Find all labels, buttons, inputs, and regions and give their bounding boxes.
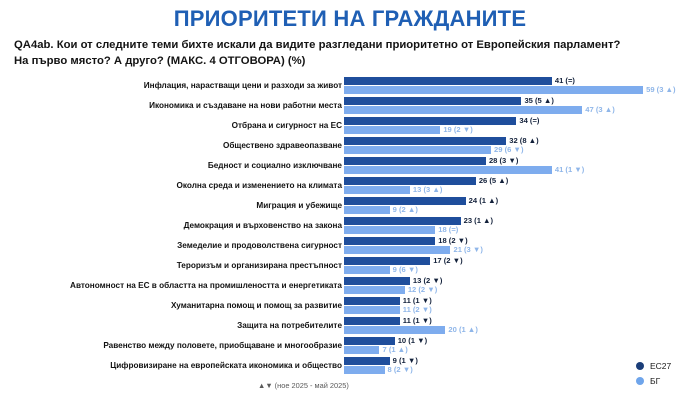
- bar-group: 11 (1 ▼)20 (1 ▲): [344, 316, 700, 336]
- legend-swatch-icon: [636, 362, 644, 370]
- bar-group: 34 (=)19 (2 ▼): [344, 116, 700, 136]
- category-label: Отбрана и сигурност на ЕС: [0, 116, 342, 135]
- bar-value-eu27: 23 (1 ▲): [464, 215, 493, 226]
- category-label: Тероризъм и организирана престъпност: [0, 256, 342, 275]
- bar-group: 13 (2 ▼)12 (2 ▼): [344, 276, 700, 296]
- bar-bg: [344, 246, 450, 254]
- bar-value-eu27: 35 (5 ▲): [524, 95, 553, 106]
- bar-bg: [344, 86, 643, 94]
- chart-row: Равенство между половете, приобщаване и …: [0, 336, 700, 356]
- bar-value-eu27: 11 (1 ▼): [403, 315, 432, 326]
- bar-value-bg: 8 (2 ▼): [388, 364, 413, 375]
- bar-group: 41 (=)59 (3 ▲): [344, 76, 700, 96]
- bar-chart: Инфлация, нарастващи цени и разходи за ж…: [0, 76, 700, 376]
- chart-row: Земеделие и продоволствена сигурност18 (…: [0, 236, 700, 256]
- bar-value-bg: 18 (=): [438, 224, 458, 235]
- bar-bg: [344, 326, 445, 334]
- category-label: Миграция и убежище: [0, 196, 342, 215]
- bar-value-bg: 11 (2 ▼): [403, 304, 432, 315]
- bar-eu27: [344, 177, 476, 185]
- bar-group: 35 (5 ▲)47 (3 ▲): [344, 96, 700, 116]
- chart-row: Демокрация и върховенство на закона23 (1…: [0, 216, 700, 236]
- chart-row: Обществено здравеопазване32 (8 ▲)29 (6 ▼…: [0, 136, 700, 156]
- bar-value-bg: 19 (2 ▼): [443, 124, 472, 135]
- bar-value-eu27: 26 (5 ▲): [479, 175, 508, 186]
- chart-row: Цифровизиране на европейската икономика …: [0, 356, 700, 376]
- bar-value-eu27: 41 (=): [555, 75, 575, 86]
- bar-value-bg: 29 (6 ▼): [494, 144, 523, 155]
- category-label: Хуманитарна помощ и помощ за развитие: [0, 296, 342, 315]
- bar-group: 32 (8 ▲)29 (6 ▼): [344, 136, 700, 156]
- bar-eu27: [344, 357, 390, 365]
- bar-eu27: [344, 157, 486, 165]
- legend-item-eu27: ЕС27: [636, 358, 700, 373]
- legend-label: ЕС27: [650, 361, 671, 371]
- bar-value-bg: 59 (3 ▲): [646, 84, 675, 95]
- bar-group: 24 (1 ▲)9 (2 ▲): [344, 196, 700, 216]
- category-label: Инфлация, нарастващи цени и разходи за ж…: [0, 76, 342, 95]
- bar-group: 11 (1 ▼)11 (2 ▼): [344, 296, 700, 316]
- bar-value-eu27: 24 (1 ▲): [469, 195, 498, 206]
- bar-value-bg: 41 (1 ▼): [555, 164, 584, 175]
- bar-value-bg: 12 (2 ▼): [408, 284, 437, 295]
- bar-bg: [344, 166, 552, 174]
- bar-value-bg: 20 (1 ▲): [448, 324, 477, 335]
- chart-row: Околна среда и изменението на климата26 …: [0, 176, 700, 196]
- bar-value-eu27: 34 (=): [519, 115, 539, 126]
- bar-bg: [344, 346, 379, 354]
- chart-row: Хуманитарна помощ и помощ за развитие11 …: [0, 296, 700, 316]
- bar-value-bg: 21 (3 ▼): [453, 244, 482, 255]
- chart-legend: ЕС27 БГ: [636, 358, 700, 388]
- bar-group: 18 (2 ▼)21 (3 ▼): [344, 236, 700, 256]
- category-label: Обществено здравеопазване: [0, 136, 342, 155]
- bar-bg: [344, 146, 491, 154]
- category-label: Околна среда и изменението на климата: [0, 176, 342, 195]
- chart-row: Автономност на ЕС в областта на промишле…: [0, 276, 700, 296]
- bar-value-bg: 7 (1 ▲): [382, 344, 407, 355]
- bar-value-bg: 9 (2 ▲): [393, 204, 418, 215]
- chart-row: Миграция и убежище24 (1 ▲)9 (2 ▲): [0, 196, 700, 216]
- chart-row: Икономика и създаване на нови работни ме…: [0, 96, 700, 116]
- bar-value-bg: 13 (3 ▲): [413, 184, 442, 195]
- bar-bg: [344, 206, 390, 214]
- bar-bg: [344, 226, 435, 234]
- bar-eu27: [344, 297, 400, 305]
- bar-bg: [344, 266, 390, 274]
- footnote: ▲▼ (ное 2025 - май 2025): [258, 381, 349, 390]
- category-label: Демокрация и върховенство на закона: [0, 216, 342, 235]
- bar-value-eu27: 28 (3 ▼): [489, 155, 518, 166]
- bar-bg: [344, 286, 405, 294]
- chart-row: Тероризъм и организирана престъпност17 (…: [0, 256, 700, 276]
- bar-group: 28 (3 ▼)41 (1 ▼): [344, 156, 700, 176]
- bar-bg: [344, 306, 400, 314]
- bar-group: 23 (1 ▲)18 (=): [344, 216, 700, 236]
- page-title: ПРИОРИТЕТИ НА ГРАЖДАНИТЕ: [0, 6, 700, 32]
- category-label: Автономност на ЕС в областта на промишле…: [0, 276, 342, 295]
- bar-value-bg: 47 (3 ▲): [585, 104, 614, 115]
- category-label: Земеделие и продоволствена сигурност: [0, 236, 342, 255]
- bar-eu27: [344, 77, 552, 85]
- bar-group: 17 (2 ▼)9 (6 ▼): [344, 256, 700, 276]
- bar-value-eu27: 17 (2 ▼): [433, 255, 462, 266]
- chart-row: Защита на потребителите11 (1 ▼)20 (1 ▲): [0, 316, 700, 336]
- bar-group: 26 (5 ▲)13 (3 ▲): [344, 176, 700, 196]
- chart-row: Бедност и социално изключване28 (3 ▼)41 …: [0, 156, 700, 176]
- bar-value-bg: 9 (6 ▼): [393, 264, 418, 275]
- chart-row: Отбрана и сигурност на ЕС34 (=)19 (2 ▼): [0, 116, 700, 136]
- bar-bg: [344, 126, 440, 134]
- bar-bg: [344, 106, 582, 114]
- legend-swatch-icon: [636, 377, 644, 385]
- bar-eu27: [344, 317, 400, 325]
- bar-bg: [344, 186, 410, 194]
- category-label: Бедност и социално изключване: [0, 156, 342, 175]
- category-label: Равенство между половете, приобщаване и …: [0, 336, 342, 355]
- bar-bg: [344, 366, 385, 374]
- category-label: Цифровизиране на европейската икономика …: [0, 356, 342, 375]
- bar-group: 10 (1 ▼)7 (1 ▲): [344, 336, 700, 356]
- bar-eu27: [344, 237, 435, 245]
- chart-row: Инфлация, нарастващи цени и разходи за ж…: [0, 76, 700, 96]
- bar-eu27: [344, 117, 516, 125]
- slide-root: ПРИОРИТЕТИ НА ГРАЖДАНИТЕ QA4ab. Кои от с…: [0, 0, 700, 404]
- category-label: Защита на потребителите: [0, 316, 342, 335]
- legend-label: БГ: [650, 376, 660, 386]
- question-text: QA4ab. Кои от следните теми бихте искали…: [14, 38, 634, 69]
- category-label: Икономика и създаване на нови работни ме…: [0, 96, 342, 115]
- legend-item-bg: БГ: [636, 373, 700, 388]
- bar-eu27: [344, 97, 521, 105]
- bar-eu27: [344, 137, 506, 145]
- bar-eu27: [344, 277, 410, 285]
